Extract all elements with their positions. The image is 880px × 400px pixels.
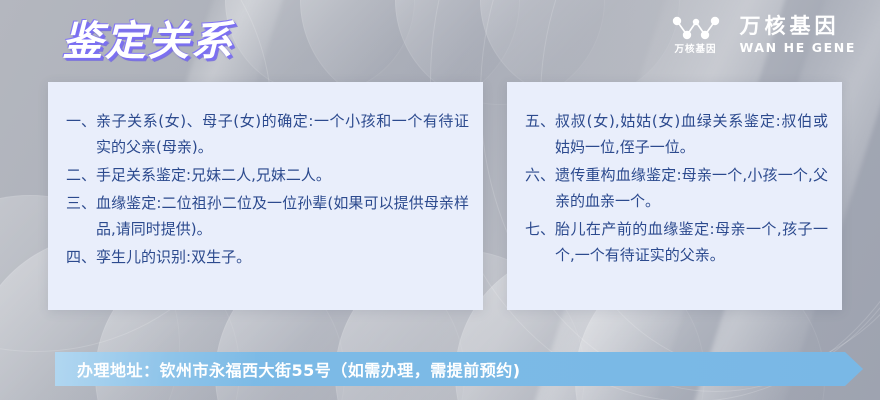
list-item: 一、 亲子关系(女)、母子(女)的确定:一个小孩和一个有待证实的父亲(母亲)。 xyxy=(66,108,469,160)
list-item-text: 血缘鉴定:二位祖孙二位及一位孙辈(如果可以提供母亲样品,请同时提供)。 xyxy=(96,190,469,242)
list-item-text: 遗传重构血缘鉴定:母亲一个,小孩一个,父亲的血亲一个。 xyxy=(555,162,828,214)
list-item-text: 孪生儿的识别:双生子。 xyxy=(96,244,469,270)
list-item-text: 亲子关系(女)、母子(女)的确定:一个小孩和一个有待证实的父亲(母亲)。 xyxy=(96,108,469,160)
list-item: 三、 血缘鉴定:二位祖孙二位及一位孙辈(如果可以提供母亲样品,请同时提供)。 xyxy=(66,190,469,242)
list-item-number: 五、 xyxy=(525,108,555,134)
list-item: 二、 手足关系鉴定:兄妹二人,兄妹二人。 xyxy=(66,162,469,188)
list-item: 四、 孪生儿的识别:双生子。 xyxy=(66,244,469,270)
list-item-number: 一、 xyxy=(66,108,96,134)
brand-mark-caption: 万核基因 xyxy=(675,44,717,55)
brand-wordmark: 万核基因 WAN HE GENE xyxy=(740,14,856,56)
list-item: 七、 胎儿在产前的血缘鉴定:母亲一个,孩子一个,一个有待证实的父亲。 xyxy=(525,216,828,268)
address-banner-text: 办理地址：钦州市永福西大街55号（如需办理，需提前预约) xyxy=(77,352,521,386)
list-item: 五、 叔叔(女),姑姑(女)血绿关系鉴定:叔伯或姑妈一位,侄子一位。 xyxy=(525,108,828,160)
list-item-number: 七、 xyxy=(525,216,555,242)
list-item-text: 胎儿在产前的血缘鉴定:母亲一个,孩子一个,一个有待证实的父亲。 xyxy=(555,216,828,268)
relationship-list-panel-right: 五、 叔叔(女),姑姑(女)血绿关系鉴定:叔伯或姑妈一位,侄子一位。 六、 遗传… xyxy=(507,82,842,310)
page-title: 鉴定关系 xyxy=(62,16,234,66)
list-item-text: 手足关系鉴定:兄妹二人,兄妹二人。 xyxy=(96,162,469,188)
slide-canvas: 鉴定关系 xyxy=(0,0,880,400)
list-item-number: 三、 xyxy=(66,190,96,216)
brand-name-en: WAN HE GENE xyxy=(740,40,856,56)
brand-name-cn: 万核基因 xyxy=(740,14,856,38)
list-item-text: 叔叔(女),姑姑(女)血绿关系鉴定:叔伯或姑妈一位,侄子一位。 xyxy=(555,108,828,160)
list-item: 六、 遗传重构血缘鉴定:母亲一个,小孩一个,父亲的血亲一个。 xyxy=(525,162,828,214)
address-banner: 办理地址：钦州市永福西大街55号（如需办理，需提前预约) xyxy=(55,352,863,386)
brand-logo: 万核基因 万核基因 WAN HE GENE xyxy=(670,14,856,56)
relationship-list-panel-left: 一、 亲子关系(女)、母子(女)的确定:一个小孩和一个有待证实的父亲(母亲)。 … xyxy=(48,82,483,310)
molecule-node-icon xyxy=(670,16,722,42)
list-item-number: 二、 xyxy=(66,162,96,188)
list-item-number: 四、 xyxy=(66,244,96,270)
brand-mark: 万核基因 xyxy=(670,16,722,55)
list-item-number: 六、 xyxy=(525,162,555,188)
